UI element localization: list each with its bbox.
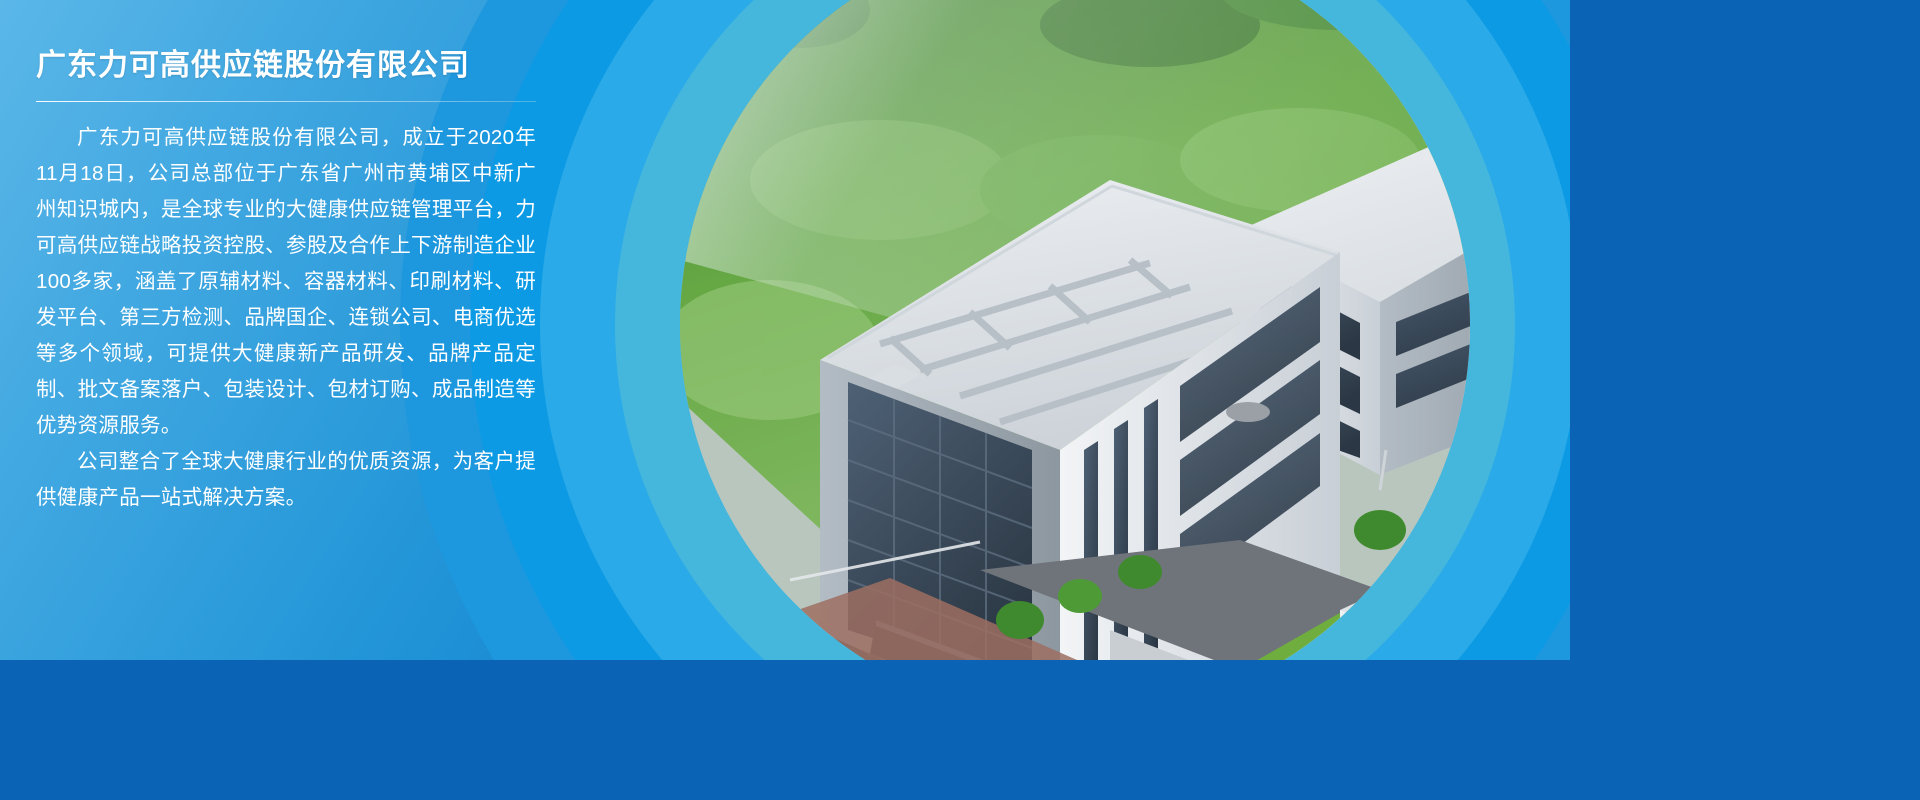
company-intro-banner: 广东力可高供应链股份有限公司 广东力可高供应链股份有限公司，成立于2020年11… (0, 0, 1570, 660)
page-title: 广东力可高供应链股份有限公司 (36, 46, 536, 85)
intro-paragraph-1: 广东力可高供应链股份有限公司，成立于2020年11月18日，公司总部位于广东省广… (36, 120, 536, 444)
intro-paragraph-2: 公司整合了全球大健康行业的优质资源，为客户提供健康产品一站式解决方案。 (36, 444, 536, 516)
title-divider (36, 101, 536, 102)
vehicle-silver-car (1226, 402, 1270, 422)
intro-text-block: 广东力可高供应链股份有限公司 广东力可高供应链股份有限公司，成立于2020年11… (36, 46, 536, 516)
headquarters-illustration (680, 0, 1470, 660)
headquarters-photo (680, 0, 1470, 660)
